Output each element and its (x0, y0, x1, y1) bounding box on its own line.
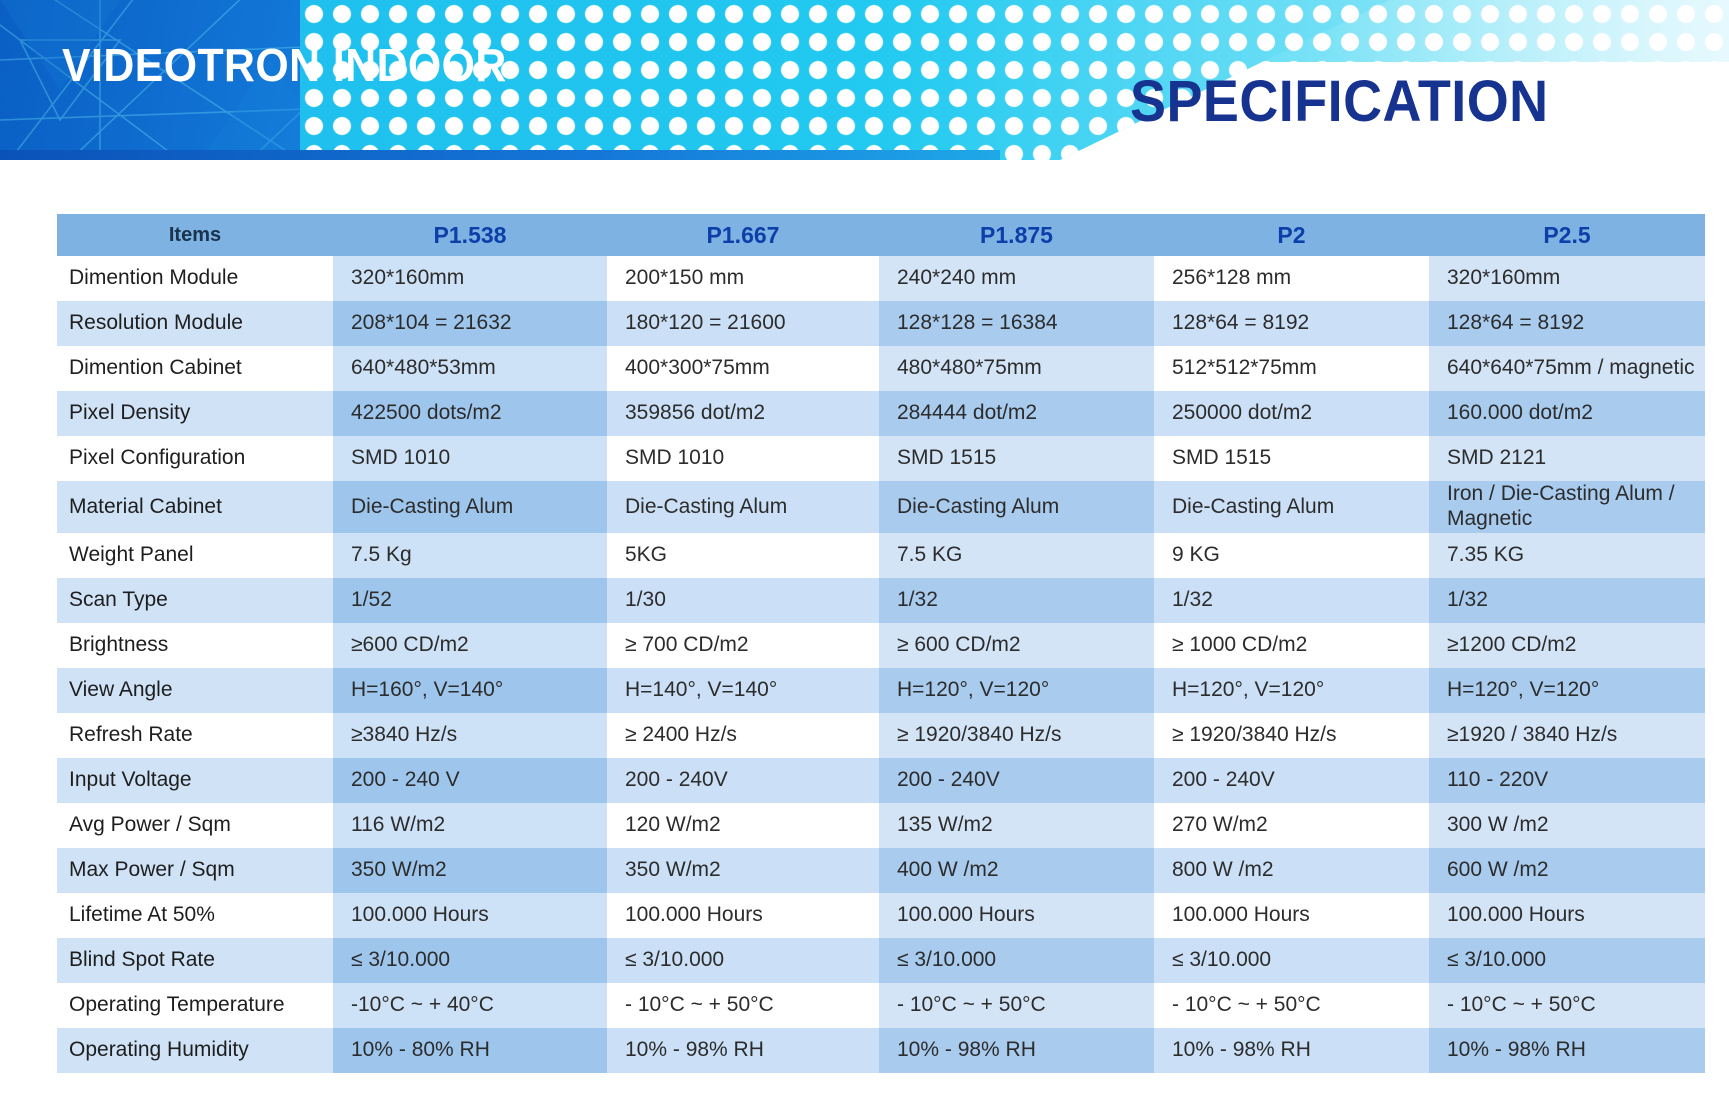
table-row: Input Voltage200 - 240 V200 - 240V200 - … (57, 758, 1705, 803)
cell-2: 100.000 Hours (607, 893, 879, 938)
cell-4: ≥ 1000 CD/m2 (1154, 623, 1429, 668)
cell-2: 10% - 98% RH (607, 1028, 879, 1073)
cell-3: 400 W /m2 (879, 848, 1154, 893)
row-label: Input Voltage (57, 758, 333, 803)
cell-4: 512*512*75mm (1154, 346, 1429, 391)
cell-2: 120 W/m2 (607, 803, 879, 848)
table-row: Material CabinetDie-Casting AlumDie-Cast… (57, 481, 1705, 533)
cell-3: ≥ 600 CD/m2 (879, 623, 1154, 668)
cell-4: 9 KG (1154, 533, 1429, 578)
cell-1: ≤ 3/10.000 (333, 938, 607, 983)
cell-2: 400*300*75mm (607, 346, 879, 391)
table-row: Operating Temperature-10°C ~ + 40°C- 10°… (57, 983, 1705, 1028)
row-label: Operating Humidity (57, 1028, 333, 1073)
cell-4: 256*128 mm (1154, 256, 1429, 301)
cell-1: -10°C ~ + 40°C (333, 983, 607, 1028)
banner-title-right: SPECIFICATION (1130, 68, 1549, 135)
cell-5: H=120°, V=120° (1429, 668, 1705, 713)
row-label: Dimention Module (57, 256, 333, 301)
cell-3: SMD 1515 (879, 436, 1154, 481)
cell-2: SMD 1010 (607, 436, 879, 481)
cell-5: 300 W /m2 (1429, 803, 1705, 848)
table-row: Resolution Module208*104 = 21632180*120 … (57, 301, 1705, 346)
table-row: Pixel ConfigurationSMD 1010SMD 1010SMD 1… (57, 436, 1705, 481)
cell-2: 200 - 240V (607, 758, 879, 803)
cell-4: 800 W /m2 (1154, 848, 1429, 893)
cell-2: 180*120 = 21600 (607, 301, 879, 346)
column-header-p1-875: P1.875 (879, 214, 1154, 256)
cell-1: 350 W/m2 (333, 848, 607, 893)
row-label: Lifetime At 50% (57, 893, 333, 938)
cell-3: 7.5 KG (879, 533, 1154, 578)
row-label: Operating Temperature (57, 983, 333, 1028)
specification-table-wrapper: Items P1.538 P1.667 P1.875 P2 P2.5 Dimen… (57, 214, 1705, 1073)
cell-4: 270 W/m2 (1154, 803, 1429, 848)
row-label: Brightness (57, 623, 333, 668)
cell-4: 250000 dot/m2 (1154, 391, 1429, 436)
cell-5: 160.000 dot/m2 (1429, 391, 1705, 436)
cell-3: 100.000 Hours (879, 893, 1154, 938)
cell-4: 10% - 98% RH (1154, 1028, 1429, 1073)
cell-5: 1/32 (1429, 578, 1705, 623)
cell-5: ≥1920 / 3840 Hz/s (1429, 713, 1705, 758)
table-row: Brightness≥600 CD/m2≥ 700 CD/m2≥ 600 CD/… (57, 623, 1705, 668)
cell-5: 320*160mm (1429, 256, 1705, 301)
cell-1: ≥600 CD/m2 (333, 623, 607, 668)
cell-1: 208*104 = 21632 (333, 301, 607, 346)
specification-table: Items P1.538 P1.667 P1.875 P2 P2.5 Dimen… (57, 214, 1705, 1073)
cell-5: 7.35 KG (1429, 533, 1705, 578)
cell-1: 7.5 Kg (333, 533, 607, 578)
cell-1: 10% - 80% RH (333, 1028, 607, 1073)
row-label: Max Power / Sqm (57, 848, 333, 893)
row-label: Avg Power / Sqm (57, 803, 333, 848)
column-header-p2-5: P2.5 (1429, 214, 1705, 256)
cell-5: 600 W /m2 (1429, 848, 1705, 893)
cell-5: 640*640*75mm / magnetic (1429, 346, 1705, 391)
cell-1: 422500 dots/m2 (333, 391, 607, 436)
cell-1: 200 - 240 V (333, 758, 607, 803)
row-label: Resolution Module (57, 301, 333, 346)
cell-5: 10% - 98% RH (1429, 1028, 1705, 1073)
cell-2: 200*150 mm (607, 256, 879, 301)
cell-3: ≥ 1920/3840 Hz/s (879, 713, 1154, 758)
table-row: View AngleH=160°, V=140°H=140°, V=140°H=… (57, 668, 1705, 713)
cell-4: - 10°C ~ + 50°C (1154, 983, 1429, 1028)
cell-2: ≤ 3/10.000 (607, 938, 879, 983)
cell-3: 480*480*75mm (879, 346, 1154, 391)
table-row: Weight Panel7.5 Kg5KG7.5 KG9 KG7.35 KG (57, 533, 1705, 578)
cell-2: ≥ 2400 Hz/s (607, 713, 879, 758)
cell-1: 640*480*53mm (333, 346, 607, 391)
cell-1: 1/52 (333, 578, 607, 623)
cell-1: 320*160mm (333, 256, 607, 301)
cell-3: 135 W/m2 (879, 803, 1154, 848)
row-label: Refresh Rate (57, 713, 333, 758)
cell-2: 5KG (607, 533, 879, 578)
table-row: Avg Power / Sqm116 W/m2120 W/m2135 W/m22… (57, 803, 1705, 848)
cell-2: 350 W/m2 (607, 848, 879, 893)
cell-2: H=140°, V=140° (607, 668, 879, 713)
table-header-row: Items P1.538 P1.667 P1.875 P2 P2.5 (57, 214, 1705, 256)
cell-4: 128*64 = 8192 (1154, 301, 1429, 346)
row-label: Blind Spot Rate (57, 938, 333, 983)
cell-1: Die-Casting Alum (333, 481, 607, 533)
cell-4: 200 - 240V (1154, 758, 1429, 803)
cell-3: H=120°, V=120° (879, 668, 1154, 713)
column-header-p2: P2 (1154, 214, 1429, 256)
cell-2: 359856 dot/m2 (607, 391, 879, 436)
cell-1: ≥3840 Hz/s (333, 713, 607, 758)
table-row: Pixel Density422500 dots/m2359856 dot/m2… (57, 391, 1705, 436)
cell-1: SMD 1010 (333, 436, 607, 481)
cell-1: 100.000 Hours (333, 893, 607, 938)
cell-4: 100.000 Hours (1154, 893, 1429, 938)
cell-5: 100.000 Hours (1429, 893, 1705, 938)
cell-4: ≥ 1920/3840 Hz/s (1154, 713, 1429, 758)
table-row: Blind Spot Rate≤ 3/10.000≤ 3/10.000≤ 3/1… (57, 938, 1705, 983)
cell-4: 1/32 (1154, 578, 1429, 623)
cell-3: - 10°C ~ + 50°C (879, 983, 1154, 1028)
cell-5: 110 - 220V (1429, 758, 1705, 803)
cell-5: Iron / Die-Casting Alum / Magnetic (1429, 481, 1705, 533)
cell-2: - 10°C ~ + 50°C (607, 983, 879, 1028)
cell-3: 284444 dot/m2 (879, 391, 1154, 436)
column-header-items: Items (57, 214, 333, 256)
column-header-p1-667: P1.667 (607, 214, 879, 256)
cell-1: 116 W/m2 (333, 803, 607, 848)
cell-3: Die-Casting Alum (879, 481, 1154, 533)
row-label: Material Cabinet (57, 481, 333, 533)
table-header: Items P1.538 P1.667 P1.875 P2 P2.5 (57, 214, 1705, 256)
banner-bottom-strip (0, 150, 1000, 160)
banner-title-left: VIDEOTRON INDOOR (62, 38, 507, 92)
table-row: Max Power / Sqm350 W/m2350 W/m2400 W /m2… (57, 848, 1705, 893)
cell-5: - 10°C ~ + 50°C (1429, 983, 1705, 1028)
cell-2: 1/30 (607, 578, 879, 623)
cell-5: ≥1200 CD/m2 (1429, 623, 1705, 668)
row-label: Dimention Cabinet (57, 346, 333, 391)
cell-3: 10% - 98% RH (879, 1028, 1154, 1073)
cell-3: 240*240 mm (879, 256, 1154, 301)
cell-5: 128*64 = 8192 (1429, 301, 1705, 346)
row-label: View Angle (57, 668, 333, 713)
table-row: Dimention Cabinet640*480*53mm400*300*75m… (57, 346, 1705, 391)
cell-1: H=160°, V=140° (333, 668, 607, 713)
cell-4: ≤ 3/10.000 (1154, 938, 1429, 983)
cell-4: Die-Casting Alum (1154, 481, 1429, 533)
cell-5: ≤ 3/10.000 (1429, 938, 1705, 983)
cell-4: SMD 1515 (1154, 436, 1429, 481)
table-row: Scan Type1/521/301/321/321/32 (57, 578, 1705, 623)
cell-3: ≤ 3/10.000 (879, 938, 1154, 983)
cell-5: SMD 2121 (1429, 436, 1705, 481)
cell-3: 128*128 = 16384 (879, 301, 1154, 346)
table-row: Lifetime At 50%100.000 Hours100.000 Hour… (57, 893, 1705, 938)
table-row: Refresh Rate≥3840 Hz/s≥ 2400 Hz/s≥ 1920/… (57, 713, 1705, 758)
row-label: Pixel Configuration (57, 436, 333, 481)
cell-4: H=120°, V=120° (1154, 668, 1429, 713)
row-label: Scan Type (57, 578, 333, 623)
column-header-p1-538: P1.538 (333, 214, 607, 256)
table-body: Dimention Module320*160mm200*150 mm240*2… (57, 256, 1705, 1073)
cell-2: ≥ 700 CD/m2 (607, 623, 879, 668)
table-row: Operating Humidity10% - 80% RH10% - 98% … (57, 1028, 1705, 1073)
cell-3: 200 - 240V (879, 758, 1154, 803)
cell-3: 1/32 (879, 578, 1154, 623)
row-label: Weight Panel (57, 533, 333, 578)
cell-2: Die-Casting Alum (607, 481, 879, 533)
row-label: Pixel Density (57, 391, 333, 436)
table-row: Dimention Module320*160mm200*150 mm240*2… (57, 256, 1705, 301)
